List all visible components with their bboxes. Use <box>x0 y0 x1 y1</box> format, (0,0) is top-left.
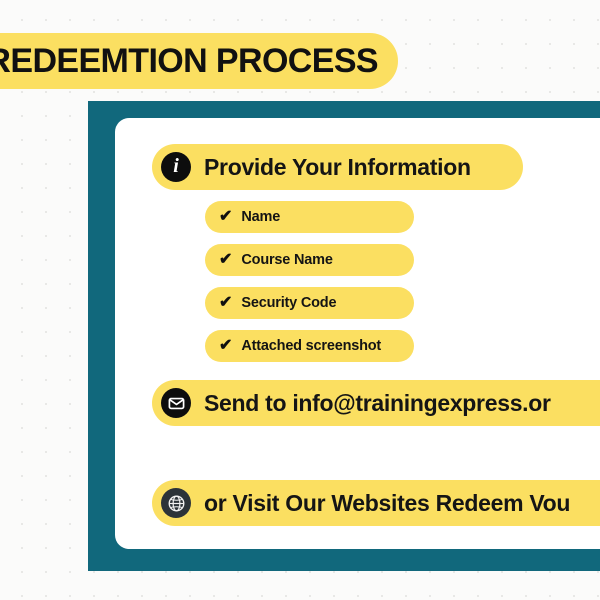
checklist-item-label: Name <box>241 209 280 225</box>
checklist-item-label: Course Name <box>241 252 332 268</box>
poster-canvas: REDEEMTION PROCESS i Provide Your Inform… <box>0 0 600 600</box>
checklist-item[interactable]: ✔ Attached screenshot <box>205 330 414 362</box>
provide-information-label: Provide Your Information <box>204 154 471 181</box>
mail-icon <box>161 388 191 418</box>
checklist-item[interactable]: ✔ Security Code <box>205 287 414 319</box>
check-icon: ✔ <box>219 209 232 225</box>
title-banner: REDEEMTION PROCESS <box>0 33 398 89</box>
checklist-item[interactable]: ✔ Course Name <box>205 244 414 276</box>
card-content: i Provide Your Information ✔ Name ✔ Cour… <box>115 118 600 549</box>
provide-information-row[interactable]: i Provide Your Information <box>152 144 523 190</box>
info-icon: i <box>161 152 191 182</box>
send-email-row[interactable]: Send to info@trainingexpress.or <box>152 380 600 426</box>
send-email-label: Send to info@trainingexpress.or <box>204 390 551 417</box>
check-icon: ✔ <box>219 338 232 354</box>
checklist-item-label: Security Code <box>241 295 336 311</box>
info-icon-glyph: i <box>173 156 179 176</box>
globe-icon <box>161 488 191 518</box>
checklist-item[interactable]: ✔ Name <box>205 201 414 233</box>
check-icon: ✔ <box>219 252 232 268</box>
check-icon: ✔ <box>219 295 232 311</box>
visit-website-row[interactable]: or Visit Our Websites Redeem Vou <box>152 480 600 526</box>
checklist-item-label: Attached screenshot <box>241 338 381 354</box>
visit-website-label: or Visit Our Websites Redeem Vou <box>204 490 570 517</box>
page-title: REDEEMTION PROCESS <box>0 44 378 78</box>
